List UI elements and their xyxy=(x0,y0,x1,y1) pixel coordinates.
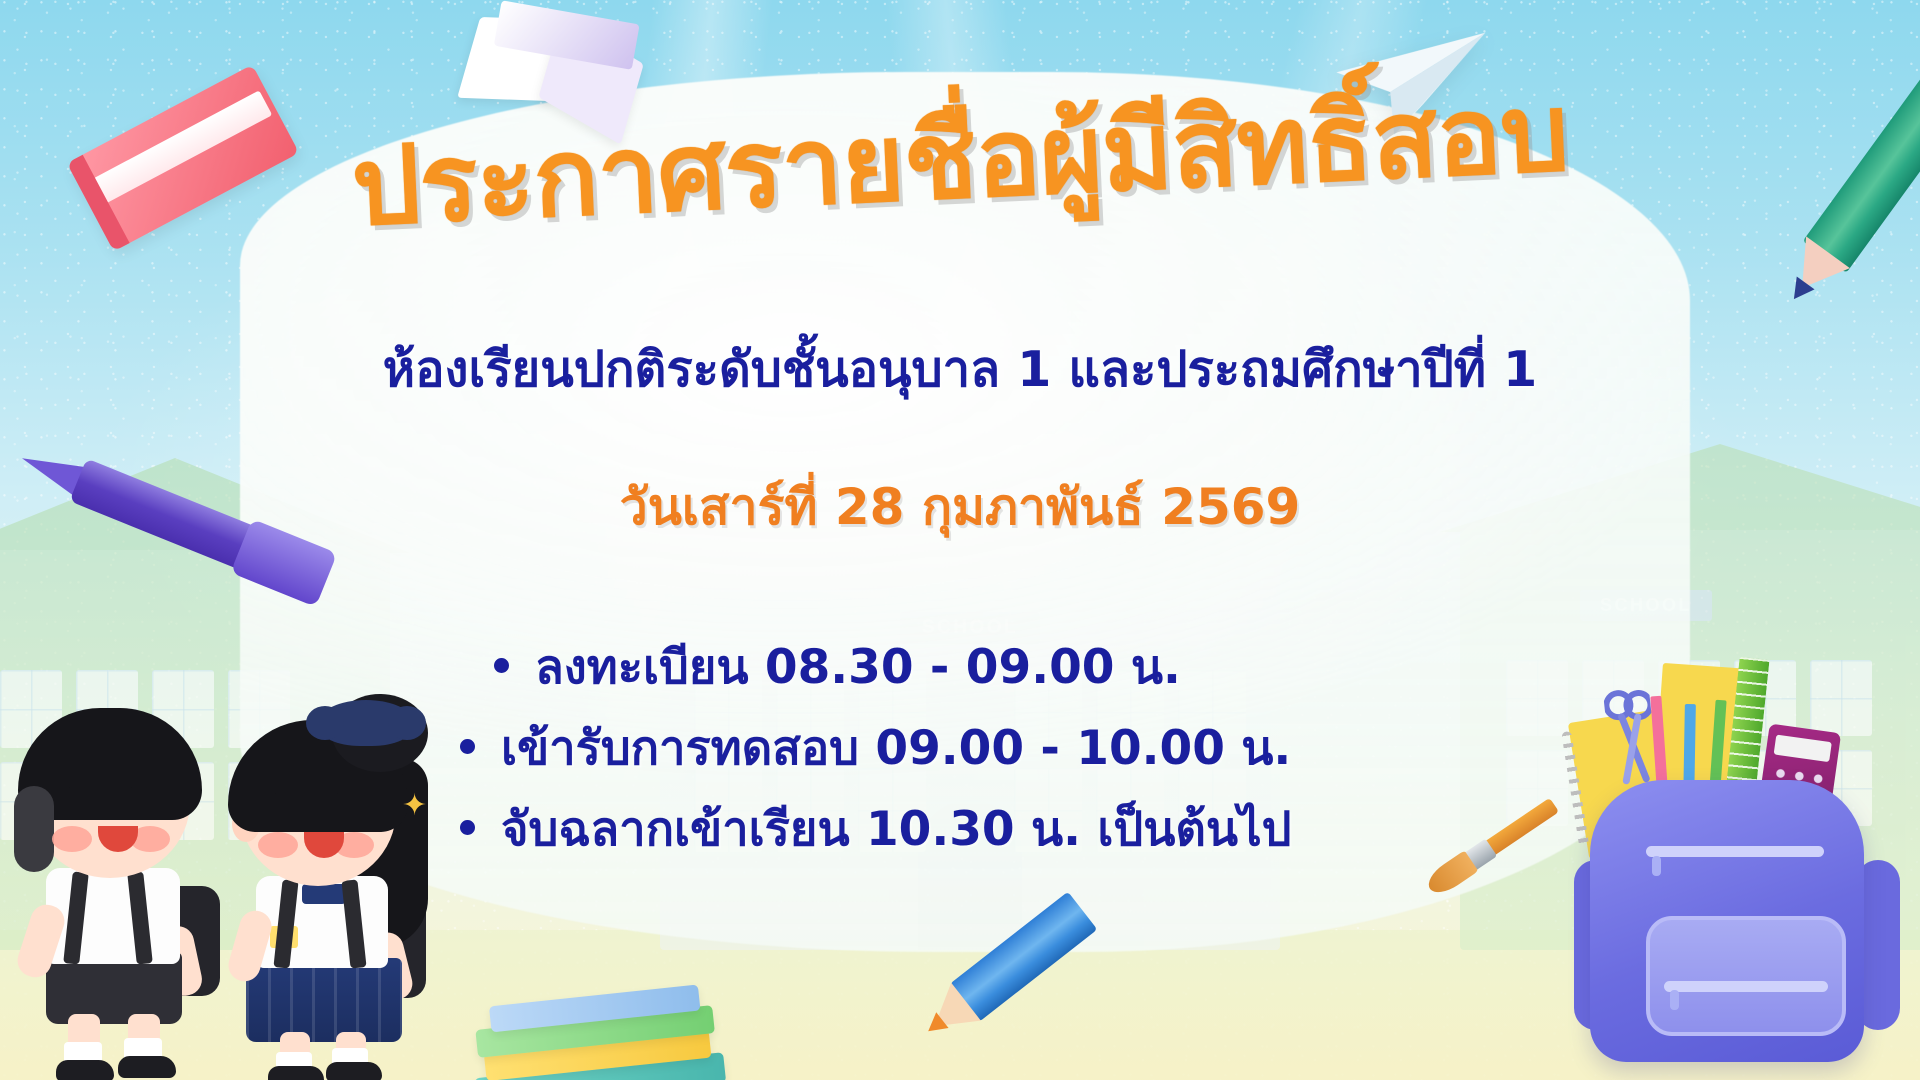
agenda-item-text: ลงทะเบียน 08.30 - 09.00 น. xyxy=(535,628,1181,709)
page-title: ประกาศรายชื่อผู้มีสิทธิ์สอบ xyxy=(0,61,1920,261)
agenda-list: ลงทะเบียน 08.30 - 09.00 น. เข้ารับการทดส… xyxy=(460,628,1560,870)
agenda-item-text: จับฉลากเข้าเรียน 10.30 น. เป็นต้นไป xyxy=(501,790,1292,871)
poster-canvas: SCHOOL SCHOOL xyxy=(0,0,1920,1080)
list-item: ลงทะเบียน 08.30 - 09.00 น. xyxy=(460,628,1560,709)
list-item: จับฉลากเข้าเรียน 10.30 น. เป็นต้นไป xyxy=(460,790,1560,871)
list-item: เข้ารับการทดสอบ 09.00 - 10.00 น. xyxy=(460,709,1560,790)
bullet-dot-icon xyxy=(460,739,475,754)
subtitle-line: ห้องเรียนปกติระดับชั้นอนุบาล 1 และประถมศ… xyxy=(0,330,1920,408)
exam-date-line: วันเสาร์ที่ 28 กุมภาพันธ์ 2569 xyxy=(0,468,1920,547)
agenda-item-text: เข้ารับการทดสอบ 09.00 - 10.00 น. xyxy=(501,709,1291,790)
poster-text-content: ประกาศรายชื่อผู้มีสิทธิ์สอบ ห้องเรียนปกต… xyxy=(0,0,1920,1080)
bullet-dot-icon xyxy=(460,820,475,835)
bullet-dot-icon xyxy=(494,658,509,673)
